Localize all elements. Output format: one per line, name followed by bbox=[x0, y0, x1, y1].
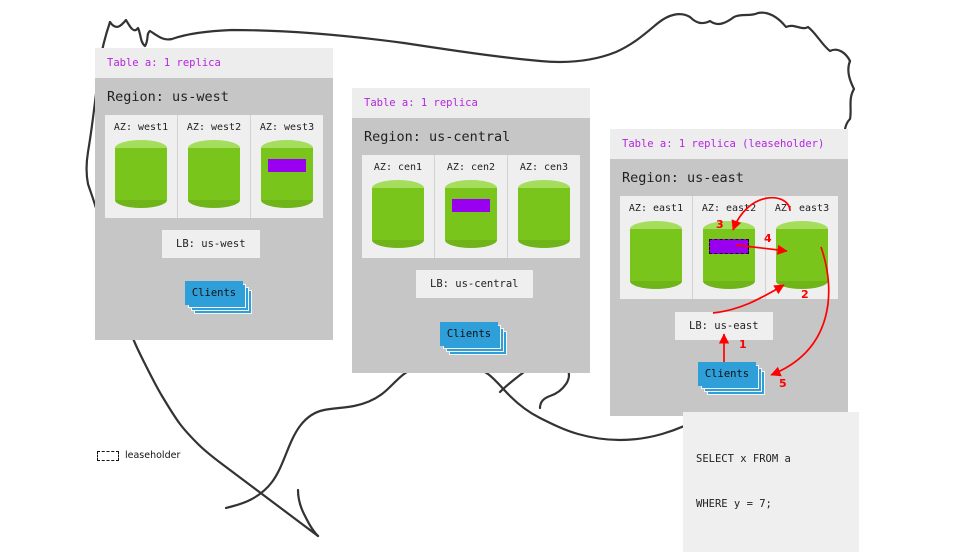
region-card-us-east: Table a: 1 replica (leaseholder) Region:… bbox=[610, 129, 848, 416]
load-balancer-us-west[interactable]: LB: us-west bbox=[162, 230, 260, 258]
diagram-canvas: Table a: 1 replica Region: us-west AZ: w… bbox=[0, 0, 960, 540]
cylinder-body bbox=[703, 229, 755, 281]
cylinder-body bbox=[115, 148, 167, 200]
az-label-east2: AZ: east2 bbox=[693, 203, 765, 214]
cylinder-body bbox=[445, 188, 497, 240]
dashed-rect-icon bbox=[97, 451, 119, 461]
clients-stack-us-east[interactable]: Clients bbox=[698, 362, 756, 386]
az-label-east3: AZ: east3 bbox=[766, 203, 838, 214]
az-panel-west3[interactable]: AZ: west3 bbox=[250, 115, 323, 218]
az-row-us-central: AZ: cen1 AZ: cen2 bbox=[362, 155, 580, 258]
az-panel-east3[interactable]: AZ: east3 bbox=[765, 196, 838, 299]
flow-step-number-2: 2 bbox=[801, 288, 809, 301]
node-cylinder-west1[interactable] bbox=[115, 140, 167, 208]
sql-line-1: SELECT x FROM a bbox=[696, 452, 846, 467]
az-label-west1: AZ: west1 bbox=[105, 122, 177, 133]
flow-step-number-5: 5 bbox=[779, 377, 787, 390]
table-header-us-central: Table a: 1 replica bbox=[352, 88, 590, 118]
az-row-us-east: AZ: east1 AZ: east2 bbox=[620, 196, 838, 299]
node-cylinder-cen1[interactable] bbox=[372, 180, 424, 248]
cylinder-body bbox=[261, 148, 313, 200]
flow-step-number-1: 1 bbox=[739, 338, 747, 351]
az-label-west2: AZ: west2 bbox=[178, 122, 250, 133]
cylinder-body bbox=[372, 188, 424, 240]
node-cylinder-west2[interactable] bbox=[188, 140, 240, 208]
sql-line-2: WHERE y = 7; bbox=[696, 497, 846, 512]
node-cylinder-cen2[interactable] bbox=[445, 180, 497, 248]
az-panel-west1[interactable]: AZ: west1 bbox=[105, 115, 177, 218]
node-cylinder-east1[interactable] bbox=[630, 221, 682, 289]
legend-label: leaseholder bbox=[125, 450, 180, 461]
clients-stack-us-central[interactable]: Clients bbox=[440, 322, 498, 346]
region-title-us-central: Region: us-central bbox=[352, 118, 590, 155]
node-cylinder-cen3[interactable] bbox=[518, 180, 570, 248]
clients-stack-us-west[interactable]: Clients bbox=[185, 281, 243, 305]
region-title-us-east: Region: us-east bbox=[610, 159, 848, 196]
table-header-us-west: Table a: 1 replica bbox=[95, 48, 333, 78]
region-title-us-west: Region: us-west bbox=[95, 78, 333, 115]
sql-query-box: SELECT x FROM a WHERE y = 7; bbox=[683, 412, 859, 552]
az-label-west3: AZ: west3 bbox=[251, 122, 323, 133]
az-label-cen2: AZ: cen2 bbox=[435, 162, 507, 173]
cylinder-body bbox=[776, 229, 828, 281]
az-panel-cen2[interactable]: AZ: cen2 bbox=[434, 155, 507, 258]
az-panel-west2[interactable]: AZ: west2 bbox=[177, 115, 250, 218]
region-card-us-central: Table a: 1 replica Region: us-central AZ… bbox=[352, 88, 590, 373]
cylinder-body bbox=[518, 188, 570, 240]
cylinder-body bbox=[188, 148, 240, 200]
az-label-east1: AZ: east1 bbox=[620, 203, 692, 214]
clients-label-us-east: Clients bbox=[698, 362, 756, 386]
load-balancer-us-central[interactable]: LB: us-central bbox=[416, 270, 533, 298]
flow-step-number-3: 3 bbox=[716, 218, 724, 231]
az-panel-cen1[interactable]: AZ: cen1 bbox=[362, 155, 434, 258]
replica-marker-west3 bbox=[268, 159, 306, 172]
cylinder-body bbox=[630, 229, 682, 281]
clients-label-us-west: Clients bbox=[185, 281, 243, 305]
az-panel-east2[interactable]: AZ: east2 bbox=[692, 196, 765, 299]
node-cylinder-east3[interactable] bbox=[776, 221, 828, 289]
load-balancer-us-east[interactable]: LB: us-east bbox=[675, 312, 773, 340]
table-header-us-east: Table a: 1 replica (leaseholder) bbox=[610, 129, 848, 159]
flow-step-number-4: 4 bbox=[764, 232, 772, 245]
node-cylinder-west3[interactable] bbox=[261, 140, 313, 208]
region-card-us-west: Table a: 1 replica Region: us-west AZ: w… bbox=[95, 48, 333, 340]
leaseholder-replica-marker-east2 bbox=[709, 239, 749, 254]
az-row-us-west: AZ: west1 AZ: west2 AZ bbox=[105, 115, 323, 218]
az-label-cen1: AZ: cen1 bbox=[362, 162, 434, 173]
clients-label-us-central: Clients bbox=[440, 322, 498, 346]
az-panel-cen3[interactable]: AZ: cen3 bbox=[507, 155, 580, 258]
node-cylinder-east2[interactable] bbox=[703, 221, 755, 289]
replica-marker-cen2 bbox=[452, 199, 490, 212]
az-panel-east1[interactable]: AZ: east1 bbox=[620, 196, 692, 299]
legend-leaseholder: leaseholder bbox=[97, 450, 180, 461]
az-label-cen3: AZ: cen3 bbox=[508, 162, 580, 173]
